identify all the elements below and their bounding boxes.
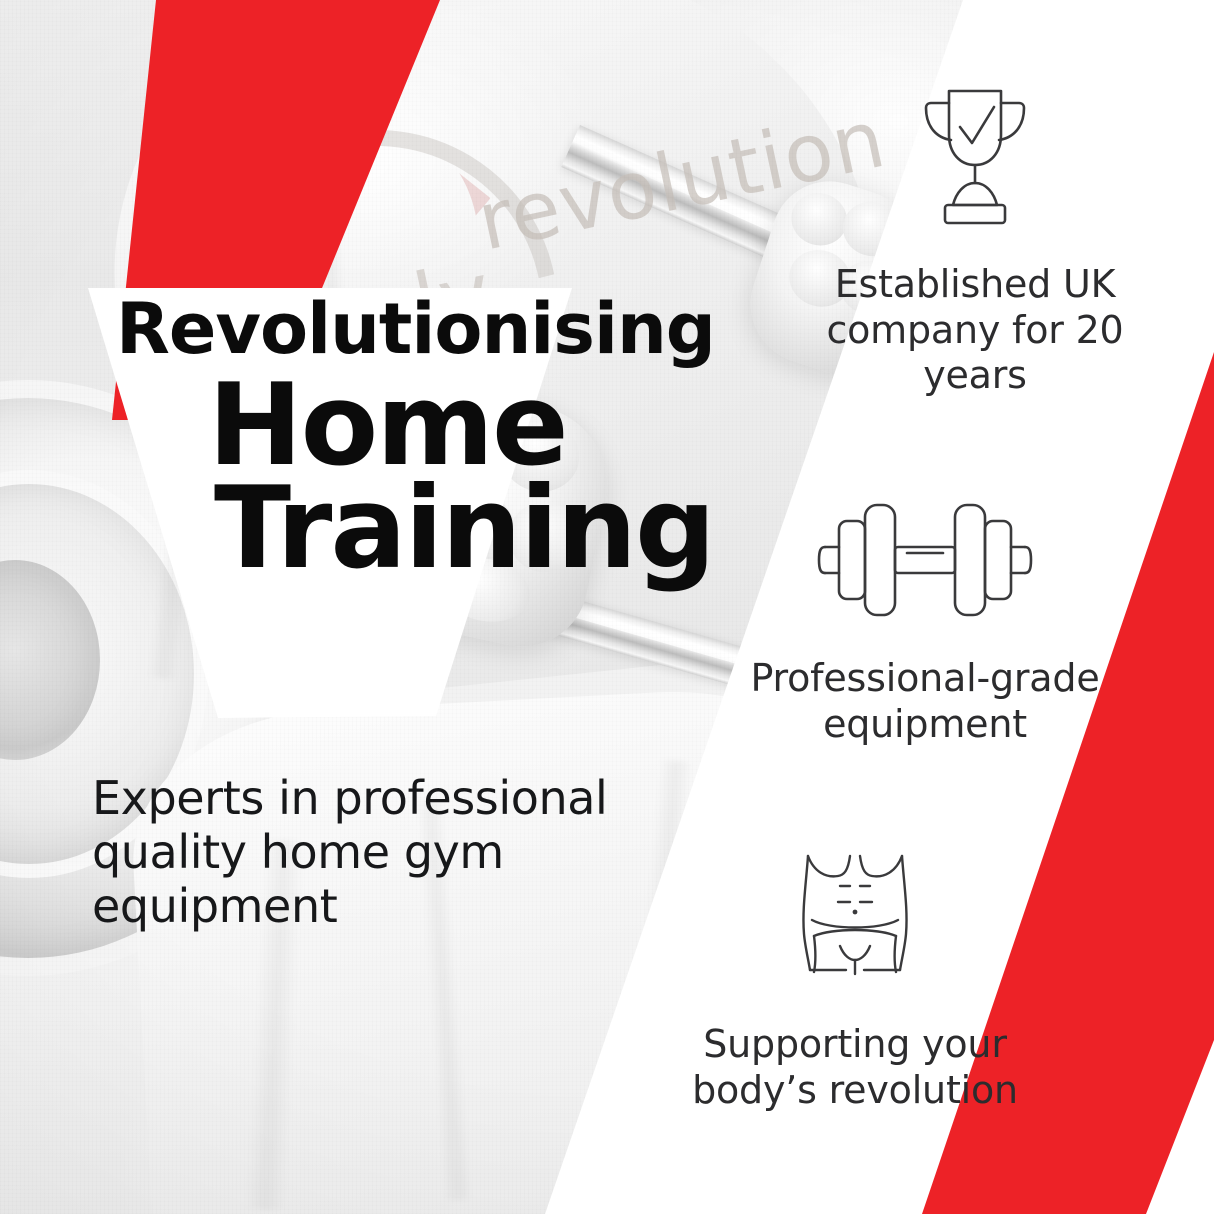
feature-label: Established UK company for 20 years [780, 262, 1170, 399]
feature-item-equipment: Professional-grade equipment [730, 470, 1120, 747]
feature-label: Supporting your body’s revolution [660, 1022, 1050, 1113]
feature-item-established: Established UK company for 20 years [780, 60, 1170, 399]
subheading-copy: Experts in professional quality home gym… [92, 772, 692, 933]
torso-abs-icon [660, 830, 1050, 1016]
feature-item-body: Supporting your body’s revolution [660, 830, 1050, 1113]
feature-label: Professional-grade equipment [730, 656, 1120, 747]
feature-list: Established UK company for 20 years Prof… [640, 0, 1214, 1214]
dumbbell-icon [730, 470, 1120, 650]
promo-banner: body revolution Revolutionising Home Tra… [0, 0, 1214, 1214]
trophy-check-icon [780, 60, 1170, 256]
